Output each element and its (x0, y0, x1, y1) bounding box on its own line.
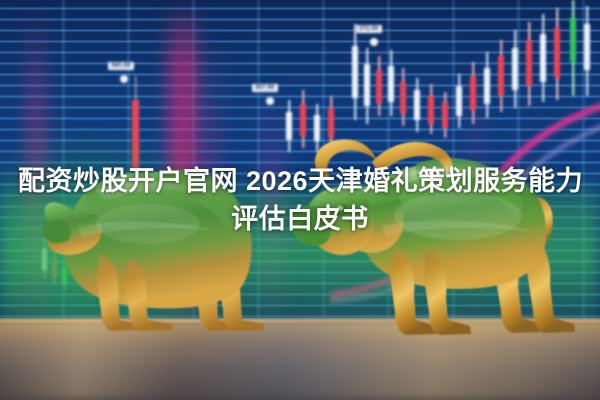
title-line-2: 评估白皮书 (18, 200, 582, 238)
price-marker-dot (370, 38, 378, 46)
title-line-1: 配资炒股开户官网 2026天津婚礼策划服务能力 (18, 162, 582, 200)
price-tag: 380.00 (108, 62, 134, 70)
page-title: 配资炒股开户官网 2026天津婚礼策划服务能力 评估白皮书 (0, 162, 600, 238)
banner-image: 380.00 357.00 372.00 (0, 0, 600, 400)
price-tag: 357.00 (252, 84, 278, 92)
price-tag: 372.00 (356, 25, 382, 33)
price-marker-dot (266, 97, 274, 105)
price-marker-dot (120, 75, 128, 83)
